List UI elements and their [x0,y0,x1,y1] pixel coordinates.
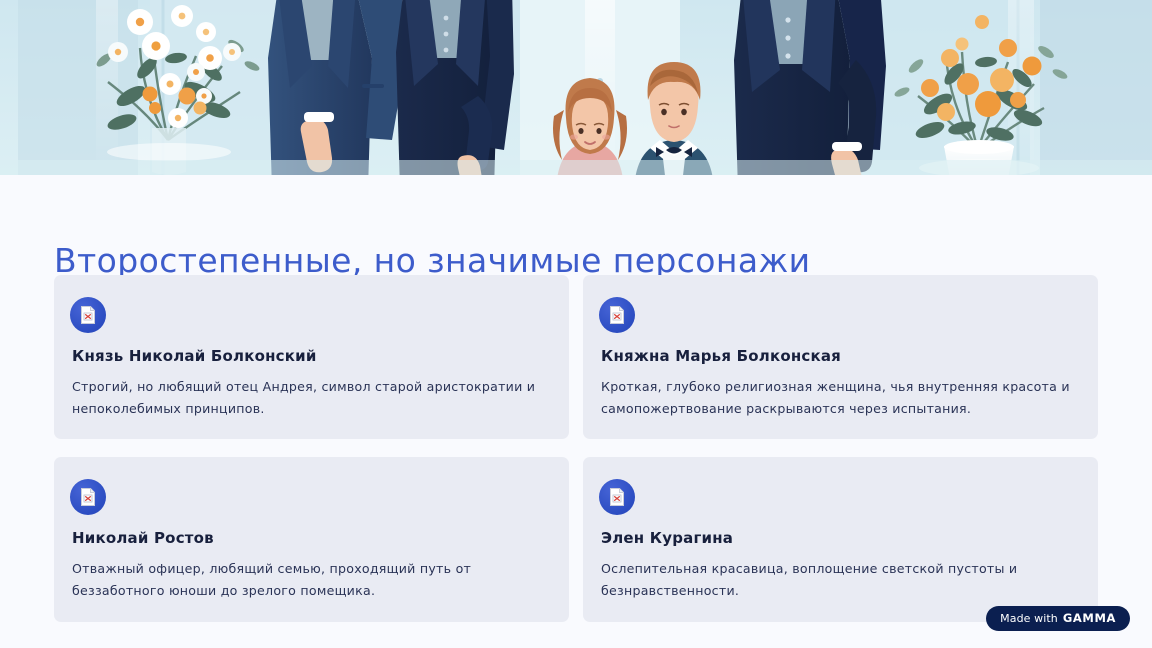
character-card[interactable]: Элен Курагина Ослепительная красавица, в… [583,457,1098,621]
card-description: Кроткая, глубоко религиозная женщина, чь… [601,376,1076,419]
card-heading: Княжна Марья Болконская [601,347,1076,365]
character-card[interactable]: Княжна Марья Болконская Кроткая, глубоко… [583,275,1098,439]
card-heading: Князь Николай Болконский [72,347,547,365]
card-description: Ослепительная красавица, воплощение свет… [601,558,1076,601]
character-card[interactable]: Николай Ростов Отважный офицер, любящий … [54,457,569,621]
figure-center-right [492,0,586,175]
badge-brand: GAMMA [1063,611,1116,625]
broken-image-icon [599,479,635,515]
main-content: Второстепенные, но значимые персонажи Кн… [0,175,1152,648]
card-description: Строгий, но любящий отец Андрея, символ … [72,376,547,419]
character-card[interactable]: Князь Николай Болконский Строгий, но люб… [54,275,569,439]
card-heading: Элен Курагина [601,529,1076,547]
hero-illustration [0,0,1152,175]
broken-image-icon [70,297,106,333]
broken-image-icon [70,479,106,515]
character-card-grid: Князь Николай Болконский Строгий, но люб… [54,275,1098,622]
badge-prefix: Made with [1000,612,1058,625]
hero-banner [0,0,1152,175]
card-description: Отважный офицер, любящий семью, проходящ… [72,558,547,601]
figure-right [734,0,886,175]
broken-image-icon [599,297,635,333]
made-with-gamma-badge[interactable]: Made with GAMMA [986,606,1130,631]
card-heading: Николай Ростов [72,529,547,547]
